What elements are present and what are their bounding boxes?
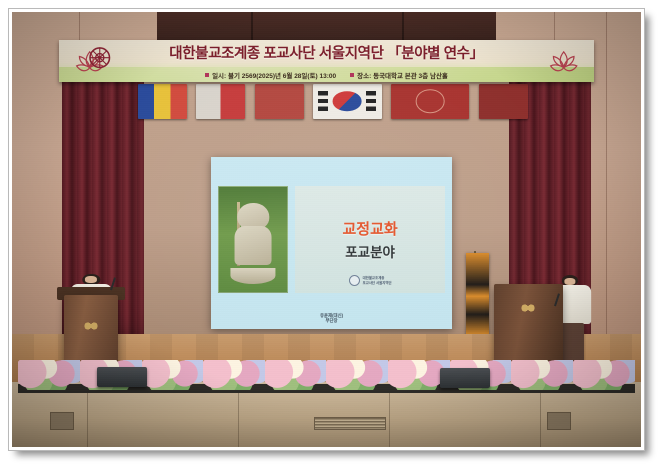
flag-university-icon bbox=[391, 84, 469, 119]
slide-heading: 교정교화 bbox=[343, 218, 398, 239]
floor-panel bbox=[50, 412, 74, 430]
ceremonial-flag-icon bbox=[466, 253, 489, 336]
podium-left bbox=[64, 295, 118, 365]
banner-title: 대한불교조계종 포교사단 서울지역단 「분야별 연수」 bbox=[107, 42, 545, 63]
floor-vent bbox=[314, 417, 386, 430]
slide-subheading: 포교분야 bbox=[345, 241, 395, 261]
presenter-face bbox=[85, 276, 97, 283]
banner-subtitle-row: 일시: 불기 2569(2025)년 6월 28일(토) 13:00 장소: 동… bbox=[91, 70, 561, 80]
wall-seam bbox=[606, 12, 607, 351]
flower-arrangement bbox=[18, 360, 80, 390]
jogye-wheel-icon bbox=[349, 275, 360, 286]
banner-place: 장소: 동국대학교 본관 3층 남산홀 bbox=[350, 70, 448, 80]
slide-text-block: 교정교화 포교분야 대한불교조계종 포교사단 서울지역단 bbox=[295, 186, 445, 293]
flower-arrangement bbox=[573, 360, 635, 390]
lotus-pedestal bbox=[231, 268, 276, 285]
slide-presenter: 유윤재(대신) 부단장 bbox=[211, 313, 453, 325]
screenshot-root: 대한불교조계종 포교사단 서울지역단 「분야별 연수」 일시: 불기 2569(… bbox=[0, 0, 663, 469]
flower-arrangement bbox=[265, 360, 327, 390]
stage-monitor-speaker bbox=[440, 368, 490, 388]
banner-date: 일시: 불기 2569(2025)년 6월 28일(토) 13:00 bbox=[205, 70, 336, 80]
projection-screen: 교정교화 포교분야 대한불교조계종 포교사단 서울지역단 bbox=[211, 157, 453, 329]
stage-photograph: 대한불교조계종 포교사단 서울지역단 「분야별 연수」 일시: 불기 2569(… bbox=[12, 12, 641, 447]
podium-right bbox=[494, 284, 563, 371]
slide-org-lockup: 대한불교조계종 포교사단 서울지역단 bbox=[295, 275, 445, 286]
flag-red-white-icon bbox=[196, 84, 245, 119]
podium-emblem-icon bbox=[83, 321, 99, 331]
floor-panel bbox=[547, 412, 571, 430]
speaker-face bbox=[565, 278, 576, 285]
flag-red-icon bbox=[255, 84, 304, 119]
auditorium-scene: 대한불교조계종 포교사단 서울지역단 「분야별 연수」 일시: 불기 2569(… bbox=[12, 12, 641, 447]
flag-tricolor-icon bbox=[138, 84, 187, 119]
slide-body: 교정교화 포교분야 대한불교조계종 포교사단 서울지역단 bbox=[218, 186, 445, 293]
flag-maroon-icon bbox=[479, 84, 528, 119]
event-banner: 대한불교조계종 포교사단 서울지역단 「분야별 연수」 일시: 불기 2569(… bbox=[59, 40, 594, 82]
stage-monitor-speaker bbox=[97, 367, 147, 387]
statue-body bbox=[235, 226, 272, 266]
flower-arrangement bbox=[203, 360, 265, 390]
photo-frame: 대한불교조계종 포교사단 서울지역단 「분야별 연수」 일시: 불기 2569(… bbox=[8, 8, 645, 451]
flag-korea-icon bbox=[313, 84, 382, 119]
flower-arrangement bbox=[511, 360, 573, 390]
presentation-slide: 교정교화 포교분야 대한불교조계종 포교사단 서울지역단 bbox=[211, 157, 453, 329]
flower-arrangement bbox=[326, 360, 388, 390]
podium-emblem-icon bbox=[520, 303, 536, 313]
flag-row bbox=[138, 84, 528, 119]
slide-org-text: 대한불교조계종 포교사단 서울지역단 bbox=[363, 276, 392, 285]
flower-arrangement bbox=[142, 360, 204, 390]
statue-photo bbox=[218, 186, 288, 293]
